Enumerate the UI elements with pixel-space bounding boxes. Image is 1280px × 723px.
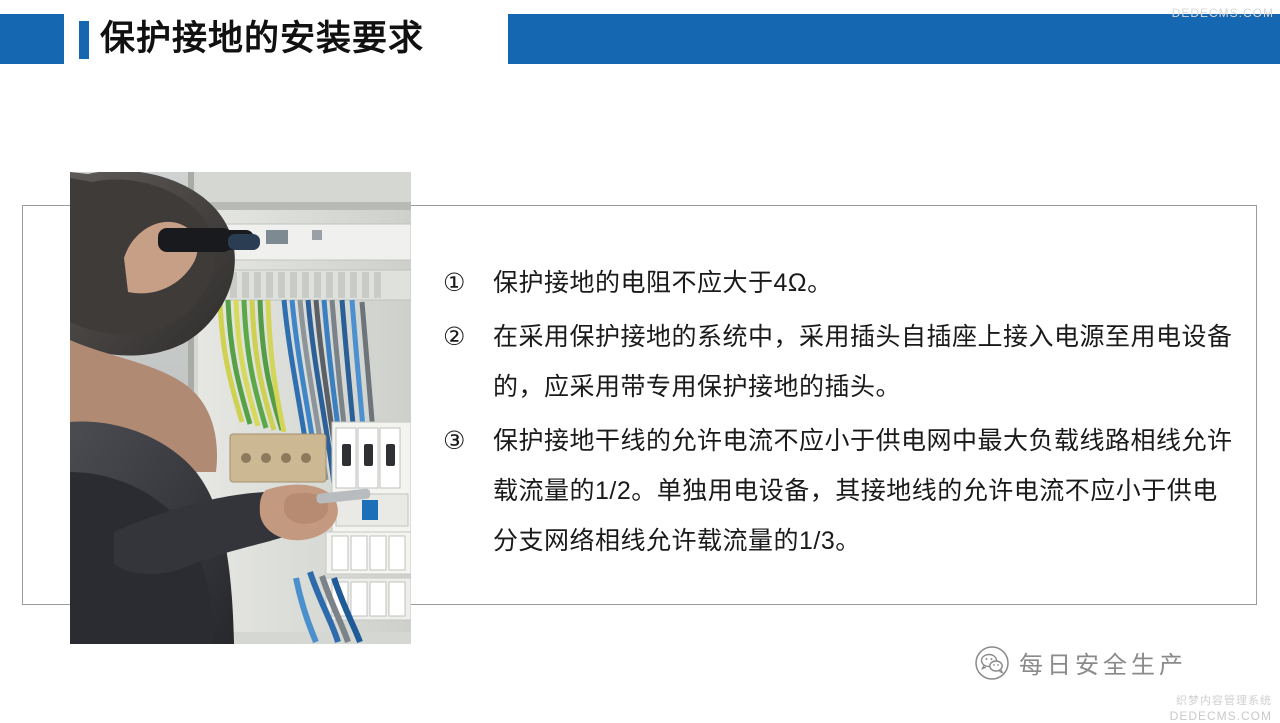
page-title: 保护接地的安装要求 <box>100 16 424 62</box>
list-item: ① 保护接地的电阻不应大于4Ω。 <box>443 258 1233 308</box>
requirements-list: ① 保护接地的电阻不应大于4Ω。 ② 在采用保护接地的系统中，采用插头自插座上接… <box>443 258 1233 570</box>
list-item-marker: ① <box>443 258 493 308</box>
list-item-marker: ③ <box>443 416 493 466</box>
list-item-marker: ② <box>443 312 493 362</box>
wechat-watermark: 每日安全生产 <box>975 645 1187 680</box>
list-item-text: 在采用保护接地的系统中，采用插头自插座上接入电源至用电设备的，应采用带专用保护接… <box>493 312 1233 412</box>
list-item: ② 在采用保护接地的系统中，采用插头自插座上接入电源至用电设备的，应采用带专用保… <box>443 312 1233 412</box>
wechat-icon <box>975 646 1009 680</box>
header-accent-bar-right <box>508 14 1280 64</box>
list-item: ③ 保护接地干线的允许电流不应小于供电网中最大负载线路相线允许载流量的1/2。单… <box>443 416 1233 566</box>
watermark-top: DEDECMS.COM <box>1172 6 1274 20</box>
watermark-bottom-cn: 织梦内容管理系统 <box>1170 692 1272 708</box>
list-item-text: 保护接地干线的允许电流不应小于供电网中最大负载线路相线允许载流量的1/2。单独用… <box>493 416 1233 566</box>
electrician-photo <box>70 172 411 644</box>
header-accent-tick <box>79 21 89 59</box>
watermark-bottom: 织梦内容管理系统 DEDECMS.COM <box>1170 692 1272 723</box>
list-item-text: 保护接地的电阻不应大于4Ω。 <box>493 258 833 308</box>
header-accent-bar-left <box>0 14 64 64</box>
slide-header: 保护接地的安装要求 <box>0 14 1280 64</box>
watermark-bottom-en: DEDECMS.COM <box>1170 709 1272 723</box>
wechat-label: 每日安全生产 <box>1019 645 1187 680</box>
